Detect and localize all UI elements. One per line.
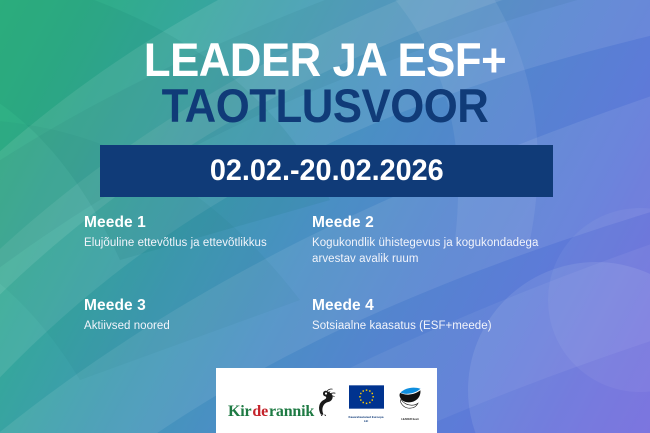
- poster-canvas: LEADER JA ESF+ TAOTLUSVOOR 02.02.-20.02.…: [0, 0, 650, 433]
- crane-bird-icon: [315, 388, 337, 421]
- date-banner: 02.02.-20.02.2026: [100, 145, 553, 197]
- measure-item-2: Meede 2 Kogukondlik ühistegevus ja koguk…: [312, 214, 584, 268]
- eu-caption: Kaasrahastanud Euroopa Liit: [347, 416, 385, 423]
- measures-grid: Meede 1 Elujõuline ettevõtlus ja ettevõt…: [84, 214, 584, 334]
- kirderannik-part-3: rannik: [269, 404, 314, 420]
- eu-logo: Kaasrahastanud Euroopa Liit: [347, 385, 385, 423]
- headline-line-1: LEADER JA ESF+: [23, 38, 628, 83]
- kirderannik-part-2: de: [252, 404, 268, 420]
- headline-line-2: TAOTLUSVOOR: [23, 84, 628, 129]
- measure-4-title: Meede 4: [312, 297, 584, 315]
- measure-3-title: Meede 3: [84, 297, 312, 315]
- measure-item-4: Meede 4 Sotsiaalne kaasatus (ESF+meede): [312, 297, 584, 334]
- measure-2-description: Kogukondlik ühistegevus ja kogukondadega…: [312, 235, 584, 268]
- measure-4-description: Sotsiaalne kaasatus (ESF+meede): [312, 318, 584, 334]
- estonia-caption: LEADER Eesti: [401, 419, 419, 422]
- date-range-text: 02.02.-20.02.2026: [210, 154, 444, 188]
- headline: LEADER JA ESF+ TAOTLUSVOOR: [0, 38, 650, 128]
- measure-1-title: Meede 1: [84, 214, 312, 232]
- estonia-leader-icon: [395, 387, 425, 418]
- logo-panel: Kirderannik: [216, 368, 437, 433]
- eu-flag-icon: [349, 385, 384, 414]
- measure-3-description: Aktiivsed noored: [84, 318, 312, 334]
- measure-item-1: Meede 1 Elujõuline ettevõtlus ja ettevõt…: [84, 214, 312, 268]
- estonia-logo: LEADER Eesti: [395, 387, 425, 422]
- measure-1-description: Elujõuline ettevõtlus ja ettevõtlikkus: [84, 235, 312, 251]
- measure-item-3: Meede 3 Aktiivsed noored: [84, 297, 312, 334]
- kirderannik-part-1: Kir: [228, 404, 251, 420]
- kirderannik-logo: Kirderannik: [228, 388, 337, 420]
- measure-2-title: Meede 2: [312, 214, 584, 232]
